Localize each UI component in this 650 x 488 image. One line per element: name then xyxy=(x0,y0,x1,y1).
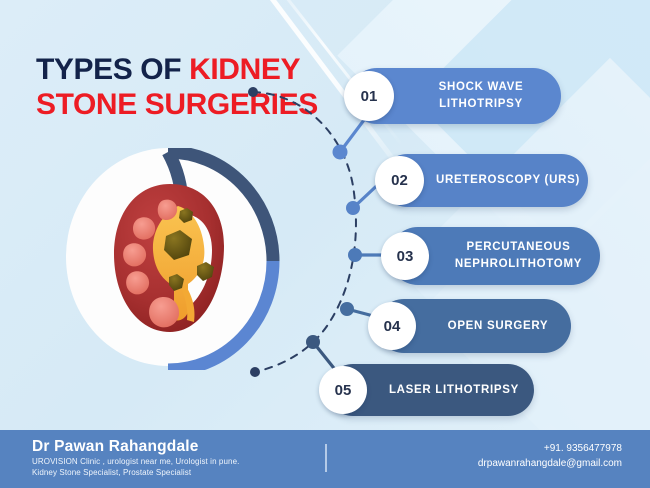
kidney-organ-graphic xyxy=(100,180,240,340)
footer-bar: Dr Pawan Rahangdale UROVISION Clinic , u… xyxy=(0,430,650,488)
footer-divider xyxy=(325,444,327,472)
list-item-05[interactable]: 05 LASER LITHOTRIPSY xyxy=(327,364,534,416)
doctor-name: Dr Pawan Rahangdale xyxy=(32,438,199,456)
infographic-poster: TYPES OF KIDNEY STONE SURGERIES xyxy=(0,0,650,488)
item-number-badge: 04 xyxy=(368,302,416,350)
list-item-01[interactable]: 01 SHOCK WAVE LITHOTRIPSY xyxy=(349,68,561,124)
item-number-badge: 02 xyxy=(375,156,424,205)
item-label: URETEROSCOPY (URS) xyxy=(433,172,583,189)
list-item-03[interactable]: 03 PERCUTANEOUS NEPHROLITHOTOMY xyxy=(389,227,600,285)
clinic-line: UROVISION Clinic , urologist near me, Ur… xyxy=(32,457,239,466)
contact-phone[interactable]: +91. 9356477978 xyxy=(544,443,622,454)
item-label: SHOCK WAVE LITHOTRIPSY xyxy=(411,79,551,112)
item-number-badge: 01 xyxy=(344,71,394,121)
specialty-line: Kidney Stone Specialist, Prostate Specia… xyxy=(32,468,191,477)
item-label: OPEN SURGERY xyxy=(427,318,569,335)
item-number-badge: 05 xyxy=(319,366,367,414)
item-number-badge: 03 xyxy=(381,232,429,280)
list-item-02[interactable]: 02 URETEROSCOPY (URS) xyxy=(381,154,588,207)
title-line1-plain: TYPES OF xyxy=(36,53,189,86)
item-label: PERCUTANEOUS NEPHROLITHOTOMY xyxy=(441,239,596,272)
item-label: LASER LITHOTRIPSY xyxy=(379,382,529,399)
list-item-04[interactable]: 04 OPEN SURGERY xyxy=(377,299,571,353)
contact-email[interactable]: drpawanrahangdale@gmail.com xyxy=(478,458,622,469)
